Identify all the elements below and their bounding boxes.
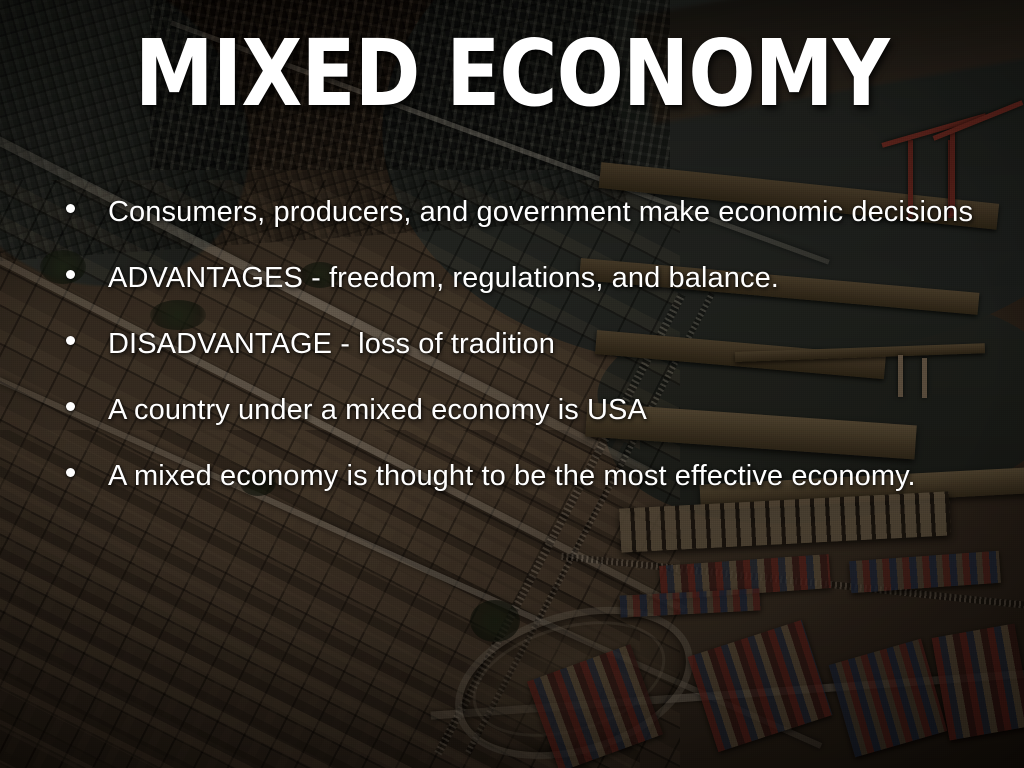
bullet-dot-icon	[66, 336, 75, 345]
bullet-dot-icon	[66, 270, 75, 279]
bullet-text: A mixed economy is thought to be the mos…	[108, 460, 916, 492]
bullet-text: DISADVANTAGE - loss of tradition	[108, 328, 555, 360]
bullet-dot-icon	[66, 468, 75, 477]
slide-content: MIXED ECONOMY Consumers, producers, and …	[0, 0, 1024, 768]
presentation-slide: MIXED ECONOMY Consumers, producers, and …	[0, 0, 1024, 768]
list-item: ADVANTAGES - freedom, regulations, and b…	[66, 262, 1006, 328]
bullet-text: A country under a mixed economy is USA	[108, 394, 647, 426]
list-item: DISADVANTAGE - loss of tradition	[66, 328, 1006, 394]
slide-title: MIXED ECONOMY	[72, 28, 953, 120]
list-item: A country under a mixed economy is USA	[66, 394, 1006, 460]
list-item: Consumers, producers, and government mak…	[66, 196, 1006, 262]
bullet-dot-icon	[66, 402, 75, 411]
bullet-text: Consumers, producers, and government mak…	[108, 196, 973, 228]
bullet-list: Consumers, producers, and government mak…	[66, 196, 1006, 526]
bullet-text: ADVANTAGES - freedom, regulations, and b…	[108, 262, 779, 294]
bullet-dot-icon	[66, 204, 75, 213]
list-item: A mixed economy is thought to be the mos…	[66, 460, 1006, 526]
